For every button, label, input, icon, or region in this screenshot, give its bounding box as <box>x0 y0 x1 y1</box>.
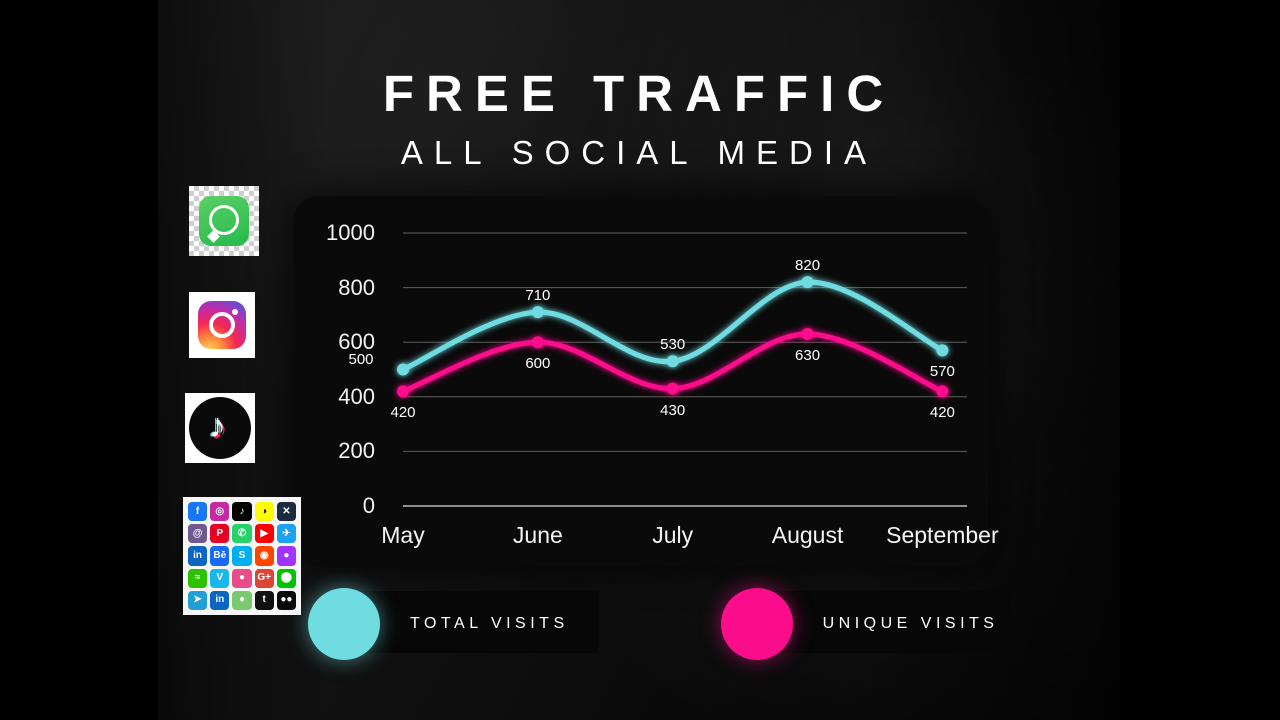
x-axis-tick-september: September <box>862 524 1022 547</box>
youtube-icon[interactable]: ▶ <box>255 524 274 543</box>
slide-content-area: FREE TRAFFIC ALL SOCIAL MEDIA ♪ f◎♪◑✕@P✆… <box>158 0 1120 720</box>
instagram-icon[interactable]: ◎ <box>210 502 229 521</box>
whatsapp-icon-tile[interactable] <box>189 186 259 256</box>
telegram-icon[interactable]: ➤ <box>188 591 207 610</box>
y-axis-tick-0: 0 <box>305 495 375 517</box>
legend-item-total-visits[interactable]: TOTAL VISITS <box>308 588 569 660</box>
data-point-unique-visits-july[interactable] <box>667 383 679 395</box>
data-point-unique-visits-may[interactable] <box>397 385 409 397</box>
tumblr-icon[interactable]: t <box>255 591 274 610</box>
page-title: FREE TRAFFIC <box>158 68 1120 119</box>
data-label-unique-visits-august: 630 <box>768 348 848 363</box>
data-point-total-visits-august[interactable] <box>802 276 814 288</box>
data-label-unique-visits-may: 420 <box>363 405 443 420</box>
x-icon[interactable]: ✕ <box>277 502 296 521</box>
letterbox-left <box>0 0 158 720</box>
facebook-icon[interactable]: f <box>188 502 207 521</box>
messenger-icon[interactable]: ● <box>277 546 296 565</box>
chart-card: 02004006008001000MayJuneJulyAugustSeptem… <box>293 196 988 566</box>
y-axis-tick-600: 600 <box>305 331 375 353</box>
data-label-total-visits-june: 710 <box>498 288 578 303</box>
tiktok-note-glyph: ♪ <box>209 409 226 443</box>
wechat-icon[interactable]: ≈ <box>188 569 207 588</box>
data-label-total-visits-september: 570 <box>902 364 982 379</box>
flickr-icon[interactable]: ●● <box>277 591 296 610</box>
data-label-total-visits-may: 500 <box>321 352 401 367</box>
legend-label-unique-visits: UNIQUE VISITS <box>823 615 999 633</box>
behance-icon[interactable]: Bē <box>210 546 229 565</box>
y-axis-tick-200: 200 <box>305 440 375 462</box>
legend-label-total-visits: TOTAL VISITS <box>410 615 569 633</box>
snapchat-icon[interactable]: ◑ <box>255 502 274 521</box>
googleplus-icon[interactable]: G+ <box>255 569 274 588</box>
tiktok-icon-tile[interactable]: ♪ <box>185 393 255 463</box>
social-media-icon-rail: ♪ f◎♪◑✕@P✆▶✈inBēS◉●≈V●G+⬤➤in●t●● <box>185 186 290 615</box>
legend-swatch-unique-visits <box>721 588 793 660</box>
wechat-icon[interactable]: ● <box>232 591 251 610</box>
tiktok-icon[interactable]: ♪ <box>232 502 251 521</box>
y-axis-tick-800: 800 <box>305 277 375 299</box>
reddit-icon[interactable]: ◉ <box>255 546 274 565</box>
twitter-icon[interactable]: ✈ <box>277 524 296 543</box>
letterbox-right <box>1120 0 1280 720</box>
legend-swatch-total-visits <box>308 588 380 660</box>
legend-item-unique-visits[interactable]: UNIQUE VISITS <box>721 588 999 660</box>
data-point-unique-visits-june[interactable] <box>532 336 544 348</box>
line-chart <box>293 196 988 566</box>
instagram-icon <box>198 301 246 349</box>
whatsapp-icon <box>199 196 249 246</box>
linkedin-icon[interactable]: in <box>188 546 207 565</box>
linkedin-icon[interactable]: in <box>210 591 229 610</box>
data-label-unique-visits-july: 430 <box>633 403 713 418</box>
screenshot-root: FREE TRAFFIC ALL SOCIAL MEDIA ♪ f◎♪◑✕@P✆… <box>0 0 1280 720</box>
data-point-unique-visits-august[interactable] <box>802 328 814 340</box>
data-point-total-visits-september[interactable] <box>936 344 948 356</box>
data-point-total-visits-july[interactable] <box>667 355 679 367</box>
page-subtitle: ALL SOCIAL MEDIA <box>158 136 1120 169</box>
tiktok-icon: ♪ <box>189 397 251 459</box>
data-label-total-visits-august: 820 <box>768 258 848 273</box>
instagram-icon-tile[interactable] <box>189 292 255 358</box>
data-label-total-visits-july: 530 <box>633 337 713 352</box>
skype-icon[interactable]: S <box>232 546 251 565</box>
vimeo-icon[interactable]: V <box>210 569 229 588</box>
data-label-unique-visits-september: 420 <box>902 405 982 420</box>
whatsapp-icon[interactable]: ✆ <box>232 524 251 543</box>
social-icon-grid-tile[interactable]: f◎♪◑✕@P✆▶✈inBēS◉●≈V●G+⬤➤in●t●● <box>183 497 301 615</box>
threads-icon[interactable]: @ <box>188 524 207 543</box>
social-icon-grid: f◎♪◑✕@P✆▶✈inBēS◉●≈V●G+⬤➤in●t●● <box>188 502 296 610</box>
dribbble-icon[interactable]: ● <box>232 569 251 588</box>
chart-legend: TOTAL VISITS UNIQUE VISITS <box>308 588 998 660</box>
data-label-unique-visits-june: 600 <box>498 356 578 371</box>
y-axis-tick-1000: 1000 <box>305 222 375 244</box>
line-icon[interactable]: ⬤ <box>277 569 296 588</box>
data-point-total-visits-june[interactable] <box>532 306 544 318</box>
data-point-unique-visits-september[interactable] <box>936 385 948 397</box>
pinterest-icon[interactable]: P <box>210 524 229 543</box>
